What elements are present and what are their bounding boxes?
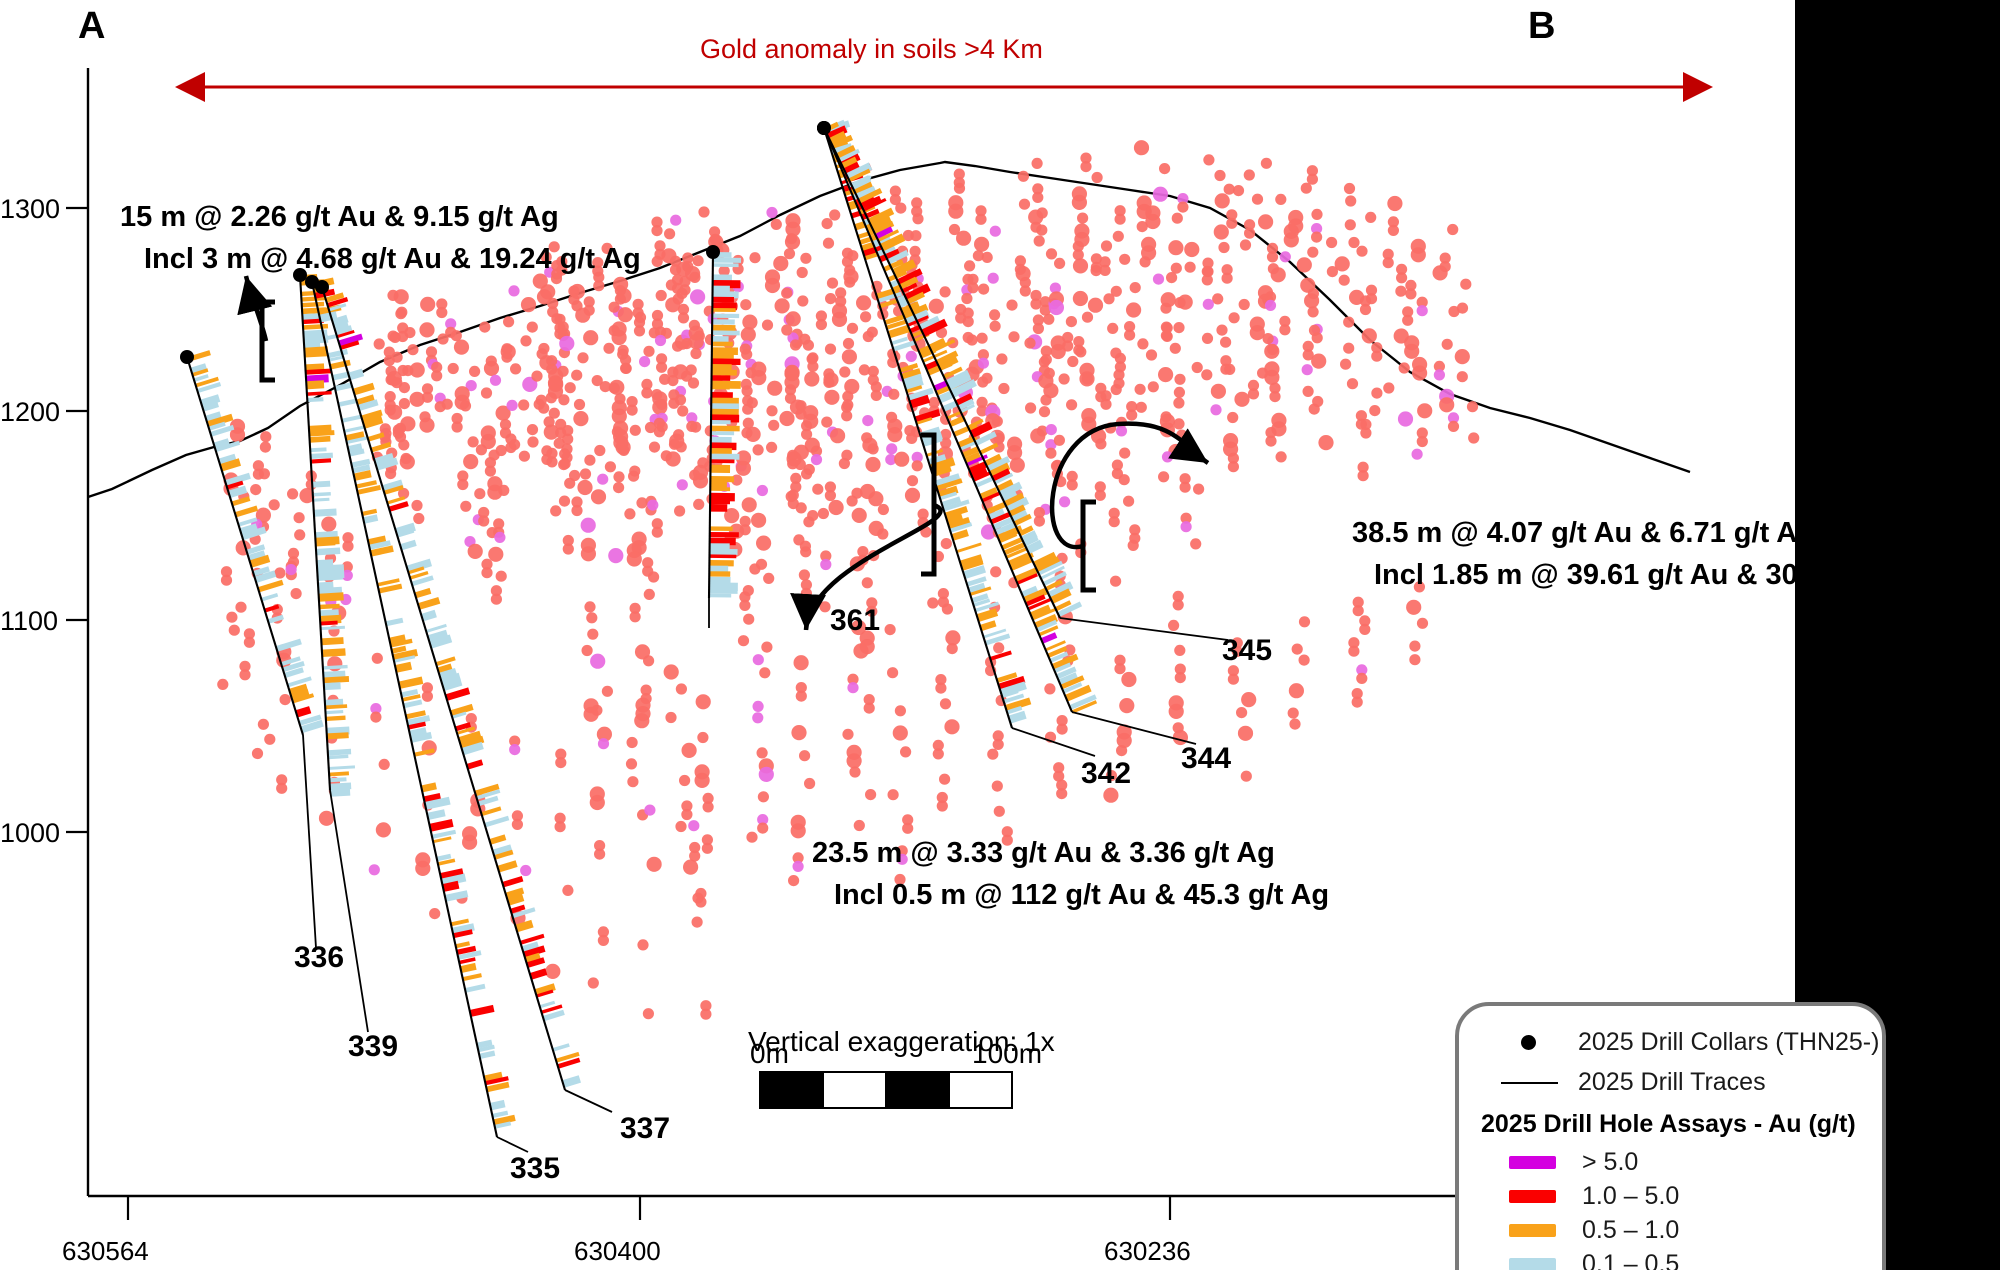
- y-tick-1200: 1200: [0, 397, 58, 428]
- hole-label-344: 344: [1181, 742, 1231, 776]
- x-tick-630236: 630236: [1104, 1236, 1191, 1267]
- hole-label-345: 345: [1222, 634, 1272, 668]
- annotation-left-line2: Incl 3 m @ 4.68 g/t Au & 19.24 g/t Ag: [120, 238, 641, 280]
- legend-row-traces: 2025 Drill Traces: [1501, 1068, 1766, 1097]
- swatch-au-gt-5-icon: [1509, 1156, 1556, 1169]
- legend-row-au-gt5: > 5.0: [1501, 1148, 1638, 1177]
- figure-root: A B Gold anomaly in soils >4 Km 1300 120…: [0, 0, 2000, 1270]
- x-tick-630400: 630400: [574, 1236, 661, 1267]
- scale-max-label: 100m: [972, 1038, 1042, 1070]
- section-end-label: B: [1528, 5, 1556, 48]
- drill-trace-icon: [1501, 1082, 1558, 1084]
- swatch-au-1-5-icon: [1509, 1190, 1556, 1203]
- x-tick-630564: 630564: [62, 1236, 149, 1267]
- drill-collar-icon: [1521, 1035, 1536, 1050]
- section-start-label: A: [78, 5, 106, 48]
- legend-au-01-05-label: 0.1 – 0.5: [1582, 1250, 1679, 1270]
- hole-label-361: 361: [830, 604, 880, 638]
- annotation-right-line2: Incl 1.85 m @ 39.61 g/t Au & 30.9: [1352, 554, 1822, 596]
- legend-panel: 2025 Drill Collars (THN25-) 2025 Drill T…: [1455, 1002, 1886, 1270]
- hole-label-339: 339: [348, 1030, 398, 1064]
- annotation-left: 15 m @ 2.26 g/t Au & 9.15 g/t Ag Incl 3 …: [120, 196, 641, 280]
- scale-bar: [760, 1072, 1012, 1108]
- annotation-center: 23.5 m @ 3.33 g/t Au & 3.36 g/t Ag Incl …: [812, 832, 1329, 916]
- legend-row-au-1-5: 1.0 – 5.0: [1501, 1182, 1679, 1211]
- legend-au-gt-5-label: > 5.0: [1582, 1148, 1638, 1177]
- hole-label-342: 342: [1081, 757, 1131, 791]
- legend-row-au-01-05: 0.1 – 0.5: [1501, 1250, 1679, 1270]
- y-tick-1000: 1000: [0, 818, 58, 849]
- annotation-center-line2: Incl 0.5 m @ 112 g/t Au & 45.3 g/t Ag: [812, 874, 1329, 916]
- scale-min-label: 0m: [750, 1038, 789, 1070]
- annotation-left-line1: 15 m @ 2.26 g/t Au & 9.15 g/t Ag: [120, 196, 641, 238]
- legend-2025-header-label: 2025 Drill Hole Assays - Au (g/t): [1481, 1110, 1856, 1139]
- legend-au-1-5-label: 1.0 – 5.0: [1582, 1182, 1679, 1211]
- legend-au-05-1-label: 0.5 – 1.0: [1582, 1216, 1679, 1245]
- hole-label-335: 335: [510, 1152, 560, 1186]
- annotation-center-line1: 23.5 m @ 3.33 g/t Au & 3.36 g/t Ag: [812, 832, 1329, 874]
- y-tick-1100: 1100: [0, 606, 58, 637]
- legend-traces-label: 2025 Drill Traces: [1578, 1068, 1766, 1097]
- annotation-right: 38.5 m @ 4.07 g/t Au & 6.71 g/t Ag Incl …: [1352, 512, 1822, 596]
- swatch-au-05-1-icon: [1509, 1224, 1556, 1237]
- legend-header-2025: 2025 Drill Hole Assays - Au (g/t): [1481, 1110, 1856, 1139]
- hole-label-337: 337: [620, 1112, 670, 1146]
- legend-row-au-05-1: 0.5 – 1.0: [1501, 1216, 1679, 1245]
- gold-anomaly-banner-text: Gold anomaly in soils >4 Km: [700, 34, 1043, 65]
- hole-label-336: 336: [294, 941, 344, 975]
- cross-section-canvas: A B Gold anomaly in soils >4 Km 1300 120…: [0, 0, 1795, 1270]
- y-tick-1300: 1300: [0, 194, 58, 225]
- annotation-right-line1: 38.5 m @ 4.07 g/t Au & 6.71 g/t Ag: [1352, 512, 1822, 554]
- legend-row-collars: 2025 Drill Collars (THN25-): [1501, 1028, 1879, 1057]
- swatch-au-01-05-icon: [1509, 1258, 1556, 1270]
- legend-collars-label: 2025 Drill Collars (THN25-): [1578, 1028, 1879, 1057]
